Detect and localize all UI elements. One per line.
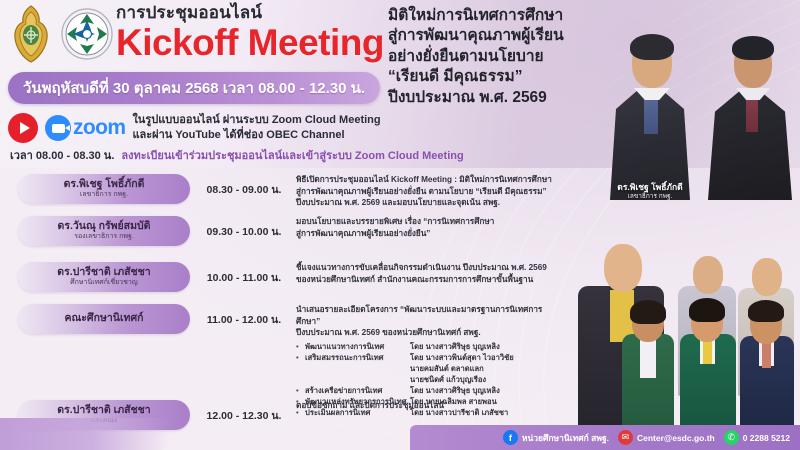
agenda-description: มอบนโยบายและบรรยายพิเศษ เรื่อง “การนิเทศ…	[296, 216, 560, 239]
agenda-list: ดร.พิเชฐ โพธิ์ภักดี เลขาธิการ กพฐ. 08.30…	[0, 172, 560, 422]
agenda-speaker-name: ดร.ปารีชาติ เภสัชชา	[57, 266, 150, 278]
obec-emblem-icon	[61, 8, 113, 60]
agenda-description: พิธีเปิดการประชุมออนไลน์ Kickoff Meeting…	[296, 174, 560, 209]
agenda-time: 10.00 - 11.00 น.	[198, 269, 290, 286]
agenda-desc-line: ชี้แจงแนวทางการขับเคลื่อนกิจกรรมดำเนินงา…	[296, 262, 554, 274]
portrait-1-role: เลขาธิการ กพฐ.	[600, 193, 700, 200]
agenda-speaker-role: ศึกษานิเทศก์เชี่ยวชาญ	[70, 279, 138, 287]
bullet-spacer	[296, 374, 305, 385]
date-banner-text: วันพฤหัสบดีที่ 30 ตุลาคม 2568 เวลา 08.00…	[23, 76, 365, 100]
group-photo	[560, 238, 800, 428]
headline-line-2: สู่การพัฒนาคุณภาพผู้เรียน	[388, 26, 603, 46]
agenda-bullet-item: • พัฒนาแนวทางการนิเทศ โดย นางสาวศิริษุธ …	[296, 341, 554, 352]
agenda-bullet-extra: นายชนิดศ์ แก้วบุญเรือง	[296, 374, 554, 385]
bullet-dot-icon: •	[296, 352, 305, 363]
agenda-time: 08.30 - 09.00 น.	[198, 181, 290, 198]
bullet-topic: พัฒนาแนวทางการนิเทศ	[305, 341, 410, 352]
agenda-time: 12.00 - 12.30 น.	[198, 407, 290, 424]
platform-text: ในรูปแบบออนไลน์ ผ่านระบบ Zoom Cloud Meet…	[132, 113, 380, 143]
poster-root: การประชุมออนไลน์ Kickoff Meeting วันพฤหั…	[0, 0, 800, 450]
bullet-topic-empty	[305, 374, 410, 385]
bullet-topic: สร้างเครือข่ายการนิเทศ	[305, 385, 410, 396]
zoom-logo: zoom	[45, 115, 125, 141]
mail-icon: ✉	[618, 430, 633, 445]
bullet-by: โดย นางสาวศิริษุธ บุญเหลิง	[410, 341, 554, 352]
phone-label: 0 2288 5212	[743, 433, 790, 443]
portrait-1-caption: ดร.พิเชฐ โพธิ์ภักดี เลขาธิการ กพฐ.	[600, 182, 700, 200]
logo-group	[8, 4, 113, 64]
agenda-description: ชี้แจงแนวทางการขับเคลื่อนกิจกรรมดำเนินงา…	[296, 262, 560, 285]
agenda-row: ดร.วันณุ กรัพย์สมบัติ รองเลขาธิการ กพฐ. …	[0, 216, 560, 246]
email-label: Center@esdc.go.th	[637, 433, 715, 443]
headline-line-4: “เรียนดี มีคุณธรรม”	[388, 67, 603, 87]
agenda-row: ดร.ปารีชาติ เภสัชชา ศึกษานิเทศก์เชี่ยวชา…	[0, 262, 560, 292]
phone-icon: ✆	[724, 430, 739, 445]
bullet-by: โดย นางสาวศิริษุธ บุญเหลิง	[410, 385, 554, 396]
footer-left-decoration	[0, 418, 170, 450]
bullet-topic: เสริมสมรรถนะการนิเทศ	[305, 352, 410, 363]
agenda-speaker-pill: ดร.วันณุ กรัพย์สมบัติ รองเลขาธิการ กพฐ.	[18, 216, 190, 246]
agenda-desc-line: ปีงบประมาณ พ.ศ. 2569 และมอบนโยบายและจุดเ…	[296, 197, 554, 209]
platform-text-line1: ในรูปแบบออนไลน์ ผ่านระบบ Zoom Cloud Meet…	[132, 113, 380, 128]
agenda-desc-line: ปีงบประมาณ พ.ศ. 2569 ของหน่วยศึกษานิเทศก…	[296, 327, 554, 339]
agenda-desc-line: สู่การพัฒนาคุณภาพผู้เรียนอย่างยั่งยืน ตา…	[296, 186, 554, 198]
zoom-camera-icon	[45, 115, 71, 141]
bullet-spacer	[296, 363, 305, 374]
headline-line-1: มิติใหม่การนิเทศการศึกษา	[388, 6, 603, 26]
agenda-desc-line: พิธีเปิดการประชุมออนไลน์ Kickoff Meeting…	[296, 174, 554, 186]
agenda-time: 09.30 - 10.00 น.	[198, 223, 290, 240]
agenda-bullet-extra: นายคมสันต์ ตลาดแลก	[296, 363, 554, 374]
agenda-time: 11.00 - 12.00 น.	[198, 311, 290, 328]
thai-meeting-title: การประชุมออนไลน์	[116, 4, 386, 23]
registration-time: เวลา 08.00 - 08.30 น.	[10, 146, 114, 164]
portrait-photo-2: ดร.วันณุ กรัพย์สมบัติ รองเลขาธิการ กพฐ.	[700, 0, 800, 200]
contact-email[interactable]: ✉ Center@esdc.go.th	[618, 430, 715, 445]
youtube-play-icon	[8, 113, 38, 143]
agenda-row: ดร.พิเชฐ โพธิ์ภักดี เลขาธิการ กพฐ. 08.30…	[0, 174, 560, 209]
facebook-icon: f	[503, 430, 518, 445]
agenda-desc-line: นำเสนอรายละเอียดโครงการ “พัฒนาระบบและมาต…	[296, 304, 554, 327]
agenda-desc-line: ของหน่วยศึกษานิเทศก์ สำนักงานคณะกรรมการก…	[296, 274, 554, 286]
contact-phone[interactable]: ✆ 0 2288 5212	[724, 430, 790, 445]
agenda-speaker-name: ดร.วันณุ กรัพย์สมบัติ	[58, 220, 151, 232]
bullet-by: โดย นางสาวพินต์สุดา ไวอาวิชัย	[410, 352, 554, 363]
headline-line-3: อย่างยั่งยืนตามนโยบาย	[388, 47, 603, 67]
kickoff-meeting-title: Kickoff Meeting	[116, 24, 386, 63]
agenda-bullet-item: • สร้างเครือข่ายการนิเทศ โดย นางสาวศิริษ…	[296, 385, 554, 396]
agenda-desc-line: ตอบข้อซักถาม และปิดการประชุมออนไลน์	[296, 400, 554, 412]
bullet-dot-icon: •	[296, 385, 305, 396]
agenda-speaker-pill: ดร.พิเชฐ โพธิ์ภักดี เลขาธิการ กพฐ.	[18, 174, 190, 204]
royal-garuda-emblem-icon	[8, 4, 54, 64]
agenda-speaker-name: คณะศึกษานิเทศก์	[65, 312, 144, 324]
agenda-desc-line: มอบนโยบายและบรรยายพิเศษ เรื่อง “การนิเทศ…	[296, 216, 554, 228]
agenda-speaker-name: ดร.พิเชฐ โพธิ์ภักดี	[64, 178, 145, 190]
zoom-wordmark: zoom	[73, 116, 125, 140]
policy-headline: มิติใหม่การนิเทศการศึกษา สู่การพัฒนาคุณภ…	[388, 6, 603, 108]
portrait-photo-1: ดร.พิเชฐ โพธิ์ภักดี เลขาธิการ กพฐ.	[600, 0, 700, 200]
agenda-speaker-name: ดร.ปารีชาติ เภสัชชา	[57, 404, 150, 416]
facebook-label: หน่วยศึกษานิเทศก์ สพฐ.	[522, 431, 609, 445]
agenda-speaker-role: รองเลขาธิการ กพฐ.	[74, 233, 134, 241]
portrait-1-name: ดร.พิเชฐ โพธิ์ภักดี	[600, 182, 700, 193]
platform-row: zoom ในรูปแบบออนไลน์ ผ่านระบบ Zoom Cloud…	[8, 110, 388, 146]
platform-text-line2: และผ่าน YouTube ได้ที่ช่อง OBEC Channel	[132, 128, 380, 143]
bullet-topic-empty	[305, 363, 410, 374]
agenda-speaker-role: เลขาธิการ กพฐ.	[80, 191, 128, 199]
agenda-description: ตอบข้อซักถาม และปิดการประชุมออนไลน์	[296, 400, 560, 412]
date-banner: วันพฤหัสบดีที่ 30 ตุลาคม 2568 เวลา 08.00…	[8, 72, 380, 104]
bullet-dot-icon: •	[296, 341, 305, 352]
agenda-bullet-item: • เสริมสมรรถนะการนิเทศ โดย นางสาวพินต์สุ…	[296, 352, 554, 363]
headline-line-5: ปีงบประมาณ พ.ศ. 2569	[388, 88, 603, 108]
agenda-desc-line: สู่การพัฒนาคุณภาพผู้เรียนอย่างยั่งยืน”	[296, 228, 554, 240]
title-block: การประชุมออนไลน์ Kickoff Meeting	[116, 4, 386, 63]
bullet-extra-name: นายชนิดศ์ แก้วบุญเรือง	[410, 374, 554, 385]
contact-footer: f หน่วยศึกษานิเทศก์ สพฐ. ✉ Center@esdc.g…	[410, 425, 800, 450]
agenda-speaker-pill: ดร.ปารีชาติ เภสัชชา ศึกษานิเทศก์เชี่ยวชา…	[18, 262, 190, 292]
bullet-extra-name: นายคมสันต์ ตลาดแลก	[410, 363, 554, 374]
contact-facebook[interactable]: f หน่วยศึกษานิเทศก์ สพฐ.	[503, 430, 609, 445]
registration-text: ลงทะเบียนเข้าร่วมประชุมออนไลน์และเข้าสู่…	[121, 146, 463, 164]
agenda-speaker-pill: คณะศึกษานิเทศก์	[18, 304, 190, 334]
registration-line: เวลา 08.00 - 08.30 น. ลงทะเบียนเข้าร่วมป…	[10, 146, 464, 164]
